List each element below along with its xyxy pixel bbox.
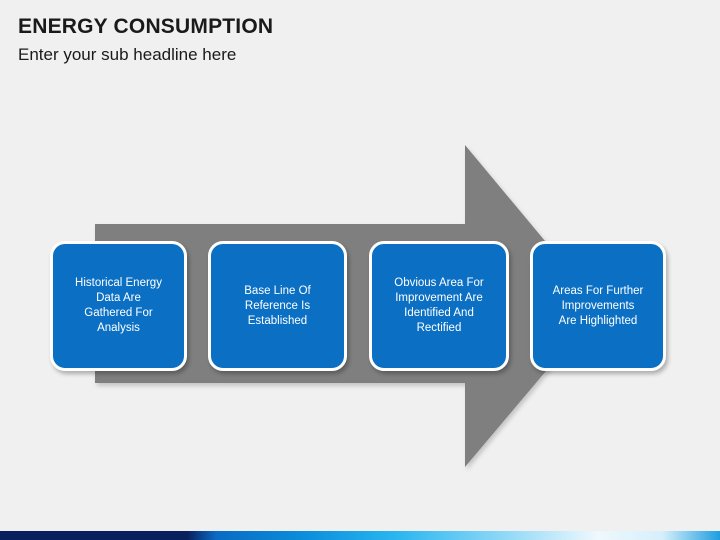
process-step-1[interactable]: Historical Energy Data Are Gathered For … <box>50 241 187 371</box>
process-step-4-label: Areas For Further Improvements Are Highl… <box>546 284 651 329</box>
slide-canvas: ENERGY CONSUMPTION Enter your sub headli… <box>0 0 720 540</box>
process-step-2[interactable]: Base Line Of Reference Is Established <box>208 241 347 371</box>
process-step-3-label: Obvious Area For Improvement Are Identif… <box>387 276 490 336</box>
process-arrow-diagram: Historical Energy Data Are Gathered For … <box>0 0 720 540</box>
process-step-4[interactable]: Areas For Further Improvements Are Highl… <box>530 241 666 371</box>
process-step-1-label: Historical Energy Data Are Gathered For … <box>68 276 169 336</box>
process-step-2-label: Base Line Of Reference Is Established <box>237 284 317 329</box>
footer-accent-bar <box>0 531 720 540</box>
process-step-3[interactable]: Obvious Area For Improvement Are Identif… <box>369 241 509 371</box>
